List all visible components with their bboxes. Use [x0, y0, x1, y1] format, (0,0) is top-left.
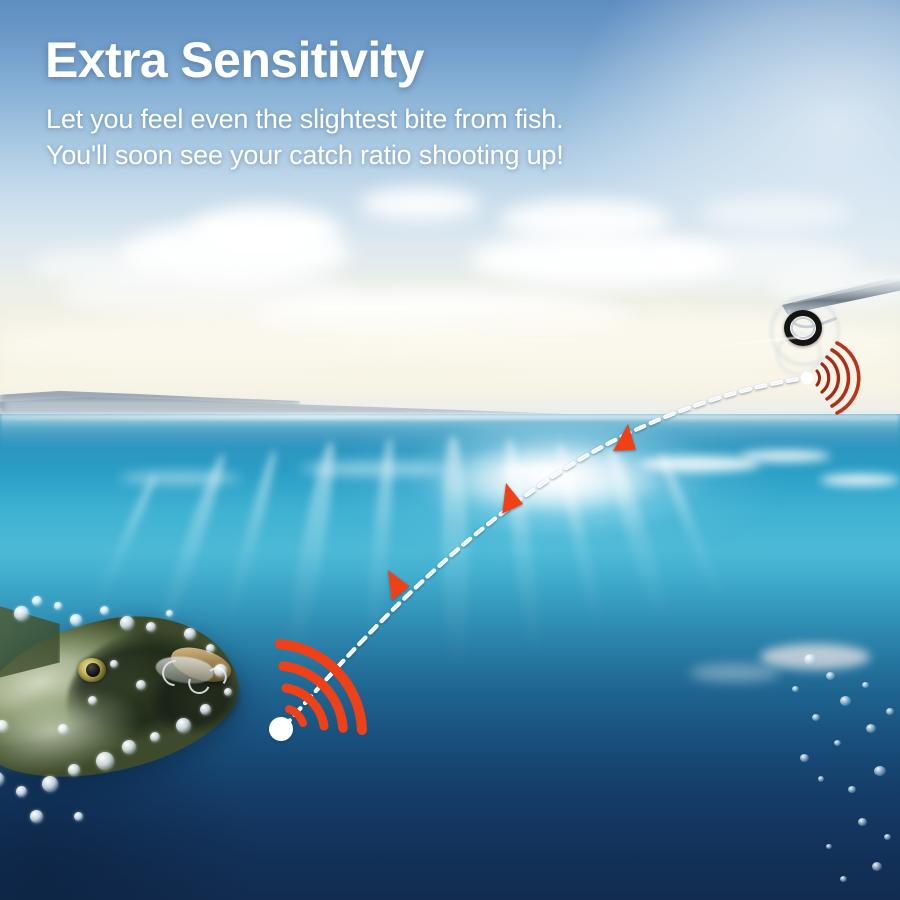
- promo-banner-scene: Extra Sensitivity Let you feel even the …: [0, 0, 900, 900]
- signal-transmission-line-core: [284, 378, 806, 727]
- direction-arrow-1: [378, 570, 412, 605]
- subtitle-line-2: You'll soon see your catch ratio shootin…: [46, 140, 564, 171]
- signal-transmission-overlay: [0, 0, 900, 900]
- direction-arrow-2: [490, 483, 527, 520]
- bite-signal-origin-dot: [269, 717, 293, 741]
- rod-tip-signal-receiver: [801, 343, 859, 413]
- rod-signal-origin-dot: [801, 372, 814, 385]
- page-title: Extra Sensitivity: [45, 34, 424, 87]
- subtitle-line-1: Let you feel even the slightest bite fro…: [46, 104, 563, 135]
- signal-transmission-line: [284, 378, 806, 727]
